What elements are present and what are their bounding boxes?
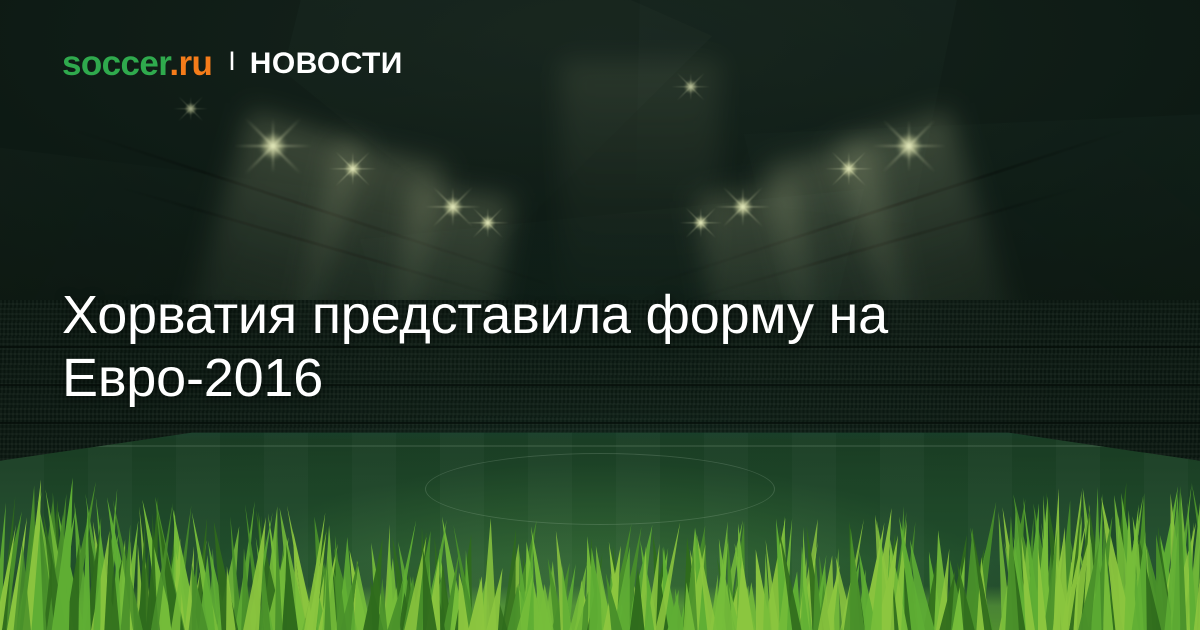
logo-name-text: soccer: [62, 44, 169, 83]
grass-foreground: [0, 460, 1200, 630]
pitch-halfway-line: [96, 445, 1104, 447]
section-label-novosti[interactable]: НОВОСТИ: [250, 49, 403, 79]
soccer-ru-logo[interactable]: soccer.ru: [62, 46, 212, 81]
logo-tld-text: .ru: [169, 44, 212, 83]
site-header: soccer.ru I НОВОСТИ: [62, 46, 403, 81]
news-preview-card: soccer.ru I НОВОСТИ Хорватия представила…: [0, 0, 1200, 630]
stand-tier-divider: [0, 422, 1200, 424]
header-separator: I: [228, 48, 236, 75]
page-title: Хорватия представила форму на Евро-2016: [62, 284, 1022, 410]
